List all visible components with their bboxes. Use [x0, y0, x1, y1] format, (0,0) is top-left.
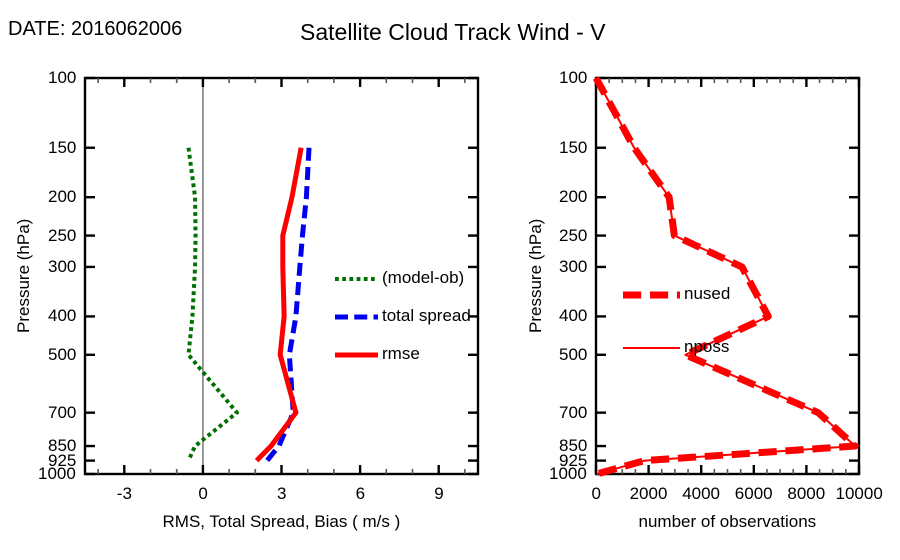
y-tick-label: 100: [48, 68, 76, 88]
y-tick-label: 150: [559, 138, 587, 158]
series-line--model-ob-: [188, 148, 236, 461]
x-tick-label: 0: [592, 484, 601, 504]
legend-label-nused: nused: [684, 284, 730, 304]
x-tick-label: 6: [356, 484, 365, 504]
y-tick-label: 150: [48, 138, 76, 158]
x-tick-label: 2000: [630, 484, 668, 504]
x-tick-label: 3: [277, 484, 286, 504]
y-tick-label: 1000: [549, 464, 587, 484]
y-tick-label: 700: [48, 403, 76, 423]
y-tick-label: 100: [559, 68, 587, 88]
legend-label-total-spread: total spread: [382, 306, 471, 326]
y-tick-label: 400: [48, 306, 76, 326]
y-tick-label: 1000: [38, 464, 76, 484]
y-tick-label: 300: [48, 257, 76, 277]
y-axis-title: Pressure (hPa): [14, 219, 34, 333]
left-panel-legend: [335, 279, 378, 355]
date-label: DATE: 2016062006: [8, 18, 182, 41]
x-tick-label: -3: [117, 484, 132, 504]
x-axis-title: number of observations: [639, 512, 817, 532]
right-panel-series: [596, 78, 855, 474]
y-axis-title: Pressure (hPa): [526, 219, 546, 333]
y-tick-label: 500: [559, 345, 587, 365]
legend-label-nposs: nposs: [684, 337, 729, 357]
y-tick-label: 700: [559, 403, 587, 423]
x-tick-label: 6000: [735, 484, 773, 504]
right-panel-legend: [623, 295, 680, 348]
y-tick-label: 500: [48, 345, 76, 365]
legend-label-rmse: rmse: [382, 344, 420, 364]
figure-canvas: DATE: 2016062006 Satellite Cloud Track W…: [0, 0, 900, 560]
y-tick-label: 400: [559, 306, 587, 326]
x-tick-label: 9: [434, 484, 443, 504]
x-axis-title: RMS, Total Spread, Bias ( m/s ): [163, 512, 401, 532]
y-tick-label: 200: [559, 187, 587, 207]
x-tick-label: 0: [198, 484, 207, 504]
legend-label--model-ob-: (model-ob): [382, 268, 464, 288]
y-tick-label: 200: [48, 187, 76, 207]
y-tick-label: 300: [559, 257, 587, 277]
left-panel-series: [188, 148, 309, 461]
x-tick-label: 8000: [787, 484, 825, 504]
page-title: Satellite Cloud Track Wind - V: [300, 19, 606, 46]
y-tick-label: 250: [559, 226, 587, 246]
series-line-nused: [596, 78, 855, 474]
y-tick-label: 250: [48, 226, 76, 246]
x-tick-label: 10000: [836, 484, 883, 504]
series-line-total-spread: [267, 148, 309, 461]
x-tick-label: 4000: [682, 484, 720, 504]
